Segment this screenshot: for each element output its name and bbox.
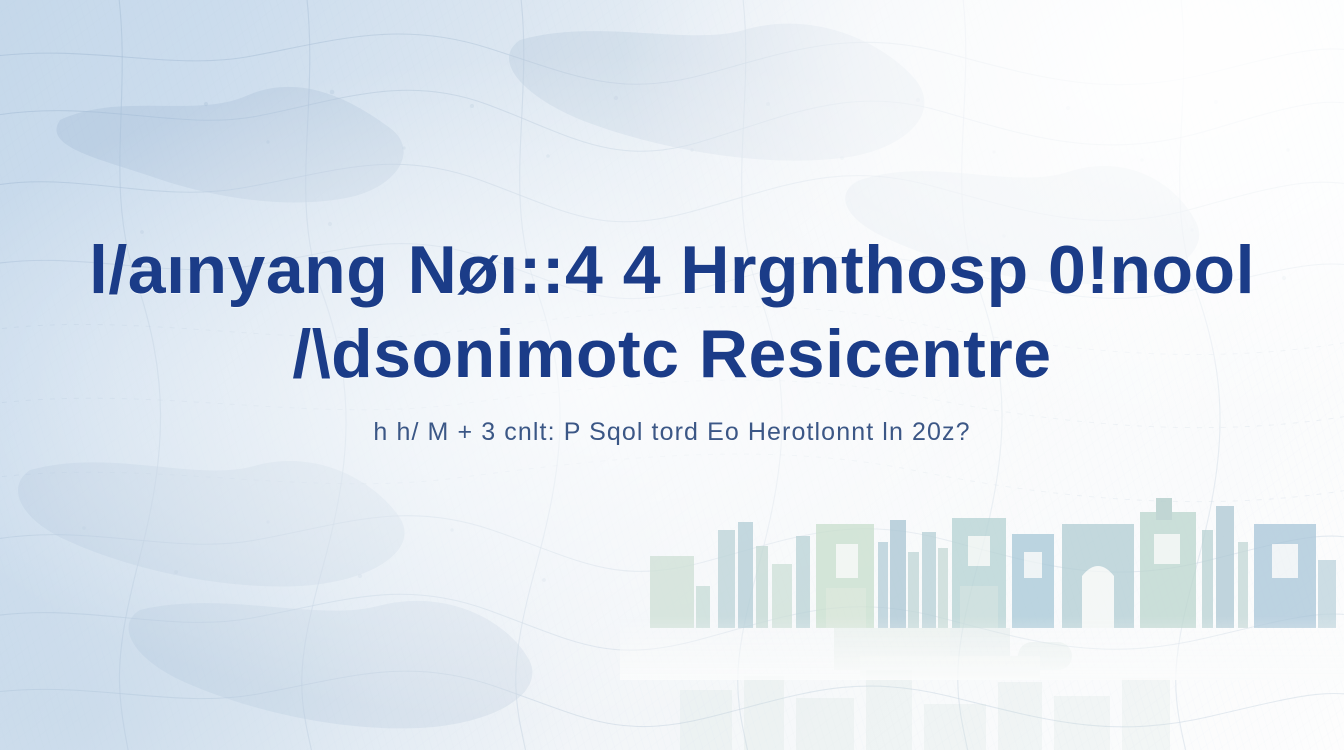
presentation-title-slide: l/aınyang Nøı::4 4 Hrgnthosp 0!nool /\ds… — [0, 0, 1344, 750]
slide-subtitle: h h/ M + 3 cnlt: P Sqol tord Eo Herotlon… — [0, 418, 1344, 447]
title-text-block: l/aınyang Nøı::4 4 Hrgnthosp 0!nool /\ds… — [0, 232, 1344, 447]
slide-title-line-2: /\dsonimotc Resicentre — [0, 316, 1344, 392]
slide-title-line-1: l/aınyang Nøı::4 4 Hrgnthosp 0!nool — [0, 232, 1344, 308]
city-skyline-silhouette — [620, 490, 1344, 680]
